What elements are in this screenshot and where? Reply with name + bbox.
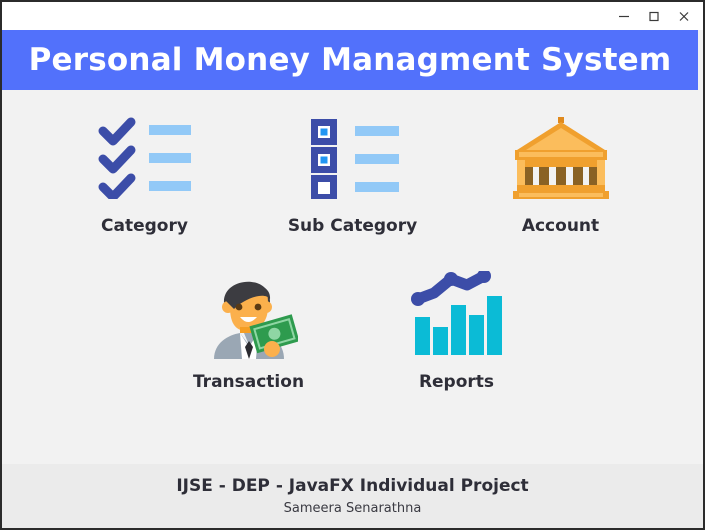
tile-sub-category-icon-wrap bbox=[305, 112, 401, 204]
tile-row-secondary: Transaction bbox=[184, 268, 522, 392]
main-content: Category bbox=[2, 90, 703, 464]
maximize-button[interactable] bbox=[639, 3, 669, 29]
close-button[interactable] bbox=[669, 3, 699, 29]
bar-chart-trend-icon bbox=[409, 271, 505, 357]
tile-category[interactable]: Category bbox=[80, 112, 210, 236]
footer-author-line: Sameera Senarathna bbox=[284, 501, 422, 516]
nested-list-icon bbox=[305, 117, 401, 199]
businessman-with-money-icon bbox=[200, 269, 298, 359]
tile-transaction-label: Transaction bbox=[193, 372, 304, 392]
tile-transaction[interactable]: Transaction bbox=[184, 268, 314, 392]
window-titlebar bbox=[2, 2, 703, 30]
tile-sub-category-label: Sub Category bbox=[288, 216, 417, 236]
app-window: Personal Money Managment System bbox=[0, 0, 705, 530]
tile-account-icon-wrap bbox=[511, 112, 611, 204]
tile-transaction-icon-wrap bbox=[200, 268, 298, 360]
header-banner: Personal Money Managment System bbox=[2, 30, 698, 90]
tile-sub-category[interactable]: Sub Category bbox=[288, 112, 418, 236]
tile-account[interactable]: Account bbox=[496, 112, 626, 236]
minimize-icon bbox=[617, 9, 631, 23]
bank-building-icon bbox=[511, 114, 611, 202]
minimize-button[interactable] bbox=[609, 3, 639, 29]
footer: IJSE - DEP - JavaFX Individual Project S… bbox=[2, 464, 703, 528]
header-wrapper: Personal Money Managment System bbox=[2, 30, 703, 90]
tile-account-label: Account bbox=[522, 216, 599, 236]
tile-category-icon-wrap bbox=[97, 112, 193, 204]
checklist-icon bbox=[97, 117, 193, 199]
tile-category-label: Category bbox=[101, 216, 188, 236]
page-title: Personal Money Managment System bbox=[29, 42, 672, 78]
maximize-icon bbox=[647, 9, 661, 23]
footer-project-line: IJSE - DEP - JavaFX Individual Project bbox=[176, 476, 528, 496]
tile-reports[interactable]: Reports bbox=[392, 268, 522, 392]
tile-reports-label: Reports bbox=[419, 372, 494, 392]
tile-row-primary: Category bbox=[80, 112, 626, 236]
tile-reports-icon-wrap bbox=[409, 268, 505, 360]
close-icon bbox=[677, 9, 691, 23]
